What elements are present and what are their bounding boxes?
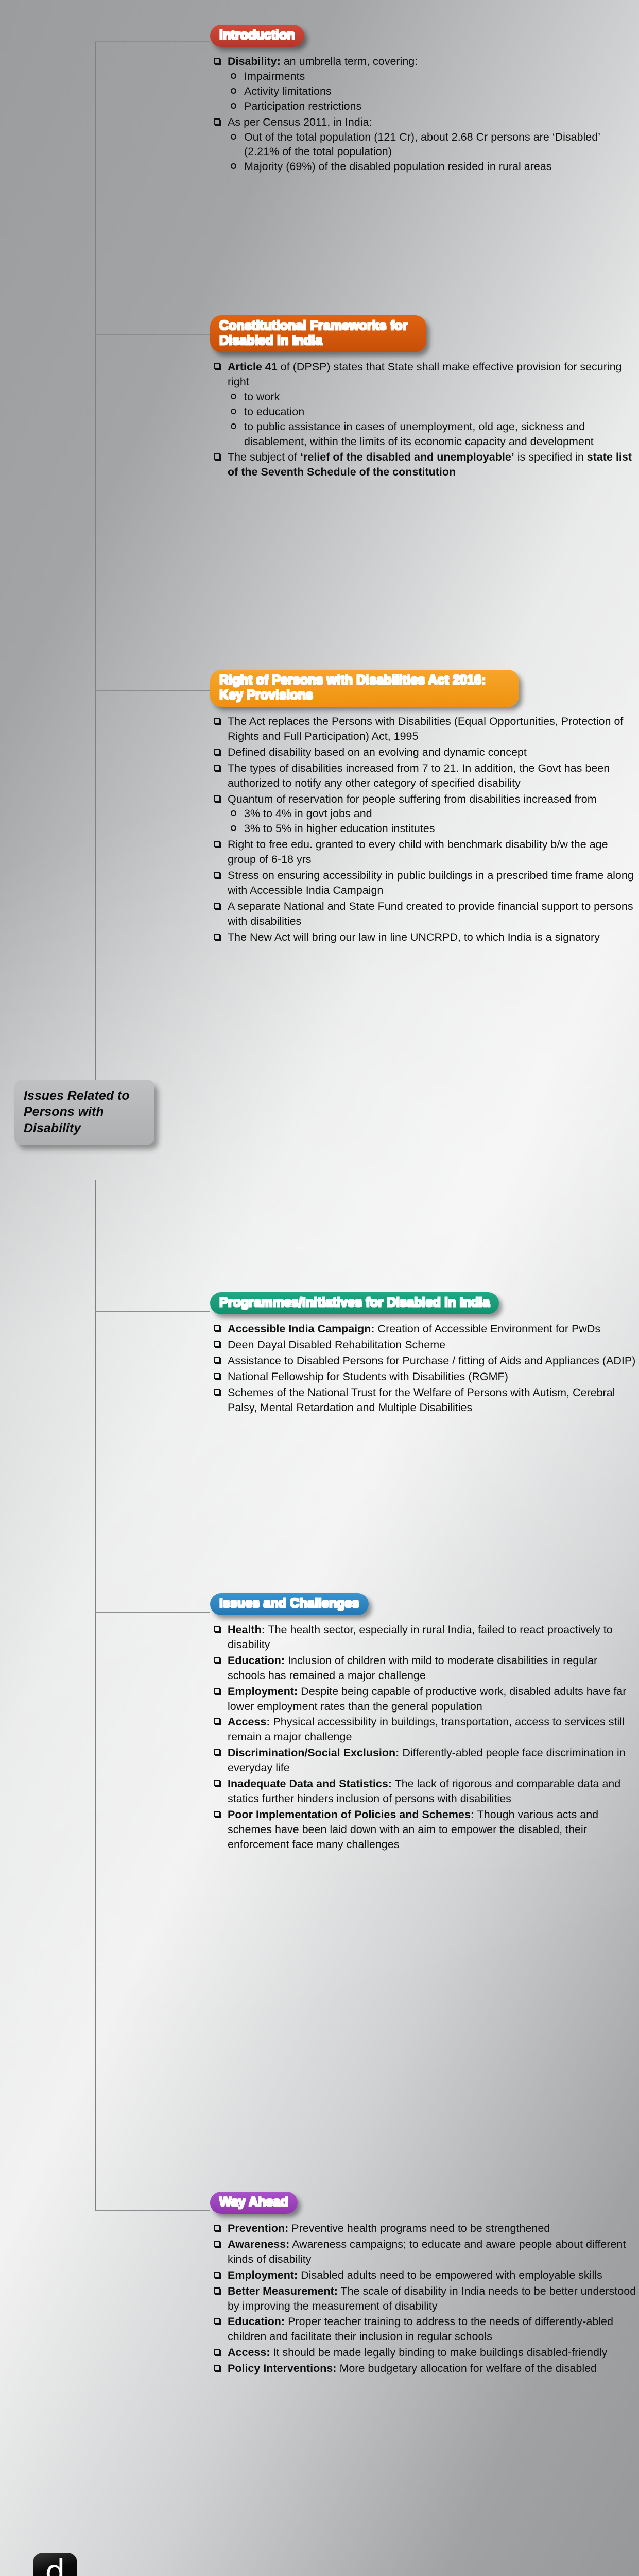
section-heading-constitutional-frameworks[interactable]: Constitutional Frameworks for Disabled i… [210, 315, 426, 352]
square-bullet-icon [214, 795, 220, 802]
square-bullet-icon [214, 1357, 220, 1363]
square-bullet-icon [214, 1718, 220, 1724]
square-bullet-icon [214, 2272, 220, 2278]
square-bullet-icon [214, 765, 220, 771]
circle-bullet-icon [231, 73, 236, 79]
item-text: an umbrella term, covering: [281, 55, 418, 67]
square-bullet-icon [214, 2241, 220, 2247]
list-item: Majority (69%) of the disabled populatio… [228, 159, 637, 174]
list-item: 3% to 4% in govt jobs and [228, 806, 637, 821]
list-item: to work [228, 389, 637, 404]
list-item: Participation restrictions [228, 99, 637, 114]
list-item: Accessible India Campaign: Creation of A… [210, 1321, 637, 1336]
list-item: Prevention: Preventive health programs n… [210, 2221, 637, 2236]
circle-bullet-icon [231, 409, 236, 414]
tree-branch-issues [95, 1612, 210, 1613]
square-bullet-icon [214, 118, 220, 125]
square-bullet-icon [214, 2318, 220, 2324]
section-introduction: Introduction Disability: an umbrella ter… [210, 25, 637, 175]
circle-bullet-icon [231, 825, 236, 831]
list-item: Right to free edu. granted to every chil… [210, 837, 637, 867]
square-bullet-icon [214, 58, 220, 64]
bullet-list-way-ahead: Prevention: Preventive health programs n… [210, 2221, 637, 2376]
square-bullet-icon [214, 2287, 220, 2294]
list-item: Activity limitations [228, 84, 637, 99]
circle-bullet-icon [231, 163, 236, 169]
square-bullet-icon [214, 1780, 220, 1786]
bullet-list-introduction: Disability: an umbrella term, covering: … [210, 54, 637, 174]
section-heading-rpwd-act[interactable]: Right of Persons with Disabilities Act 2… [210, 670, 519, 707]
square-bullet-icon [214, 872, 220, 878]
list-item: Better Measurement: The scale of disabil… [210, 2284, 637, 2314]
drishti-logo: d drishti [33, 2553, 115, 2576]
list-item: Schemes of the National Trust for the We… [210, 1385, 637, 1415]
circle-bullet-icon [231, 423, 236, 429]
section-way-ahead: Way Ahead Prevention: Preventive health … [210, 2192, 637, 2377]
list-item: Awareness: Awareness campaigns; to educa… [210, 2237, 637, 2267]
list-item: Defined disability based on an evolving … [210, 745, 637, 760]
tree-branch-way-ahead [95, 2210, 210, 2211]
square-bullet-icon [214, 1626, 220, 1632]
list-item: Out of the total population (121 Cr), ab… [228, 130, 637, 160]
square-bullet-icon [214, 1373, 220, 1379]
sub-list: Out of the total population (121 Cr), ab… [228, 130, 637, 175]
list-item: to public assistance in cases of unemplo… [228, 419, 637, 449]
square-bullet-icon [214, 1688, 220, 1694]
circle-bullet-icon [231, 134, 236, 140]
square-bullet-icon [214, 934, 220, 940]
square-bullet-icon [214, 718, 220, 724]
section-programmes-initiatives: Programmes/Initiatives for Disabled in I… [210, 1292, 637, 1416]
list-item: 3% to 5% in higher education institutes [228, 821, 637, 836]
circle-bullet-icon [231, 394, 236, 399]
drishti-logo-mark-icon: d [33, 2553, 77, 2576]
list-item: Education: Proper teacher training to ad… [210, 2314, 637, 2344]
bullet-list-rpwd: The Act replaces the Persons with Disabi… [210, 714, 637, 945]
list-item: The Act replaces the Persons with Disabi… [210, 714, 637, 744]
tree-branch-programmes [95, 1311, 210, 1312]
square-bullet-icon [214, 1325, 220, 1331]
list-item: Policy Interventions: More budgetary all… [210, 2361, 637, 2376]
root-title-text: Issues Related to Persons with Disabilit… [24, 1089, 130, 1136]
list-item: The New Act will bring our law in line U… [210, 930, 637, 945]
list-item: The subject of ‘relief of the disabled a… [210, 450, 637, 480]
section-heading-way-ahead[interactable]: Way Ahead [210, 2192, 298, 2214]
item-text: The subject of ‘relief of the disabled a… [228, 451, 632, 478]
list-item: As per Census 2011, in India: Out of the… [210, 115, 637, 175]
list-item: Employment: Despite being capable of pro… [210, 1684, 637, 1714]
square-bullet-icon [214, 1341, 220, 1347]
tree-trunk-lower [95, 1180, 96, 2210]
tree-trunk-upper [95, 41, 96, 1087]
item-lead: Article 41 [228, 361, 278, 373]
tree-branch-rpwd [95, 690, 210, 691]
list-item: Education: Inclusion of children with mi… [210, 1653, 637, 1683]
list-item: to education [228, 404, 637, 419]
list-item: Poor Implementation of Policies and Sche… [210, 1807, 637, 1852]
square-bullet-icon [214, 1811, 220, 1817]
list-item: Quantum of reservation for people suffer… [210, 792, 637, 837]
section-issues-and-challenges: Issues and Challenges Health: The health… [210, 1593, 637, 1853]
circle-bullet-icon [231, 810, 236, 816]
section-heading-issues[interactable]: Issues and Challenges [210, 1593, 369, 1615]
list-item: Disability: an umbrella term, covering: … [210, 54, 637, 114]
item-text: As per Census 2011, in India: [228, 116, 372, 128]
square-bullet-icon [214, 2349, 220, 2355]
square-bullet-icon [214, 363, 220, 369]
list-item: Impairments [228, 69, 637, 84]
list-item: Inadequate Data and Statistics: The lack… [210, 1776, 637, 1806]
section-constitutional-frameworks: Constitutional Frameworks for Disabled i… [210, 315, 637, 481]
list-item: Stress on ensuring accessibility in publ… [210, 868, 637, 898]
bullet-list-constitutional: Article 41 of (DPSP) states that State s… [210, 360, 637, 480]
circle-bullet-icon [231, 103, 236, 109]
square-bullet-icon [214, 2365, 220, 2371]
square-bullet-icon [214, 453, 220, 460]
section-rpwd-act-2016: Right of Persons with Disabilities Act 2… [210, 670, 637, 946]
list-item: Article 41 of (DPSP) states that State s… [210, 360, 637, 449]
square-bullet-icon [214, 1389, 220, 1395]
square-bullet-icon [214, 749, 220, 755]
tree-branch-constitutional [95, 334, 210, 335]
sub-list: Impairments Activity limitations Partici… [228, 69, 637, 114]
logo-letter-d: d [33, 2556, 77, 2576]
list-item: Assistance to Disabled Persons for Purch… [210, 1353, 637, 1368]
sub-list: to work to education to public assistanc… [228, 389, 637, 449]
list-item: Discrimination/Social Exclusion: Differe… [210, 1745, 637, 1775]
bullet-list-issues: Health: The health sector, especially in… [210, 1622, 637, 1852]
item-text: of (DPSP) states that State shall make e… [228, 361, 622, 388]
section-heading-programmes[interactable]: Programmes/Initiatives for Disabled in I… [210, 1292, 499, 1314]
section-heading-introduction[interactable]: Introduction [210, 25, 304, 47]
list-item: Health: The health sector, especially in… [210, 1622, 637, 1652]
circle-bullet-icon [231, 88, 236, 94]
list-item: A separate National and State Fund creat… [210, 899, 637, 929]
list-item: National Fellowship for Students with Di… [210, 1369, 637, 1384]
tree-branch-introduction [95, 41, 210, 42]
list-item: Deen Dayal Disabled Rehabilitation Schem… [210, 1337, 637, 1352]
square-bullet-icon [214, 1657, 220, 1663]
item-lead: Disability: [228, 55, 281, 67]
square-bullet-icon [214, 2225, 220, 2231]
bullet-list-programmes: Accessible India Campaign: Creation of A… [210, 1321, 637, 1415]
square-bullet-icon [214, 1749, 220, 1755]
list-item: Employment: Disabled adults need to be e… [210, 2268, 637, 2283]
infographic-canvas: Issues Related to Persons with Disabilit… [0, 0, 639, 2576]
list-item: The types of disabilities increased from… [210, 761, 637, 791]
list-item: Access: Physical accessibility in buildi… [210, 1715, 637, 1744]
square-bullet-icon [214, 903, 220, 909]
list-item: Access: It should be made legally bindin… [210, 2345, 637, 2360]
root-title-node: Issues Related to Persons with Disabilit… [14, 1080, 154, 1145]
sub-list: 3% to 4% in govt jobs and 3% to 5% in hi… [228, 806, 637, 836]
square-bullet-icon [214, 841, 220, 847]
